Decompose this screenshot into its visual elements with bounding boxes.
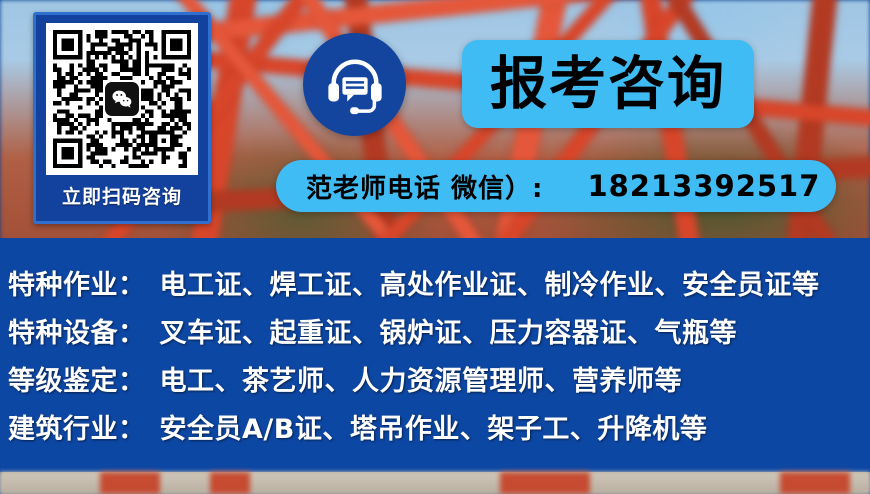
strip-blob bbox=[100, 472, 160, 494]
contact-phone-number[interactable]: 18213392517 bbox=[587, 169, 820, 203]
category-list-panel: 特种作业： 电工证、焊工证、高处作业证、制冷作业、安全员证等 特种设备： 叉车证… bbox=[0, 238, 870, 472]
category-value: 电工、茶艺师、人力资源管理师、营养师等 bbox=[160, 359, 683, 398]
category-row: 特种设备： 叉车证、起重证、锅炉证、压力容器证、气瓶等 bbox=[0, 306, 870, 354]
qr-code-image[interactable] bbox=[46, 23, 198, 175]
category-row: 特种作业： 电工证、焊工证、高处作业证、制冷作业、安全员证等 bbox=[0, 258, 870, 306]
category-label: 等级鉴定： bbox=[8, 359, 146, 398]
page-title: 报考咨询 bbox=[490, 56, 726, 113]
wechat-icon bbox=[105, 82, 139, 116]
strip-blob bbox=[500, 472, 590, 494]
qr-caption: 立即扫码咨询 bbox=[62, 182, 182, 209]
contact-label: 范老师电话 微信）: bbox=[306, 168, 543, 205]
qr-code-card[interactable]: 立即扫码咨询 bbox=[33, 12, 211, 224]
headset-chat-icon bbox=[303, 33, 406, 136]
category-value: 安全员A/B证、塔吊作业、架子工、升降机等 bbox=[160, 407, 708, 446]
category-row: 建筑行业： 安全员A/B证、塔吊作业、架子工、升降机等 bbox=[0, 402, 870, 450]
promo-banner: 立即扫码咨询 报考咨询 范老师电话 微信）: 18213392517 特种作业：… bbox=[0, 0, 870, 494]
strip-blob bbox=[210, 472, 250, 494]
strip-blob bbox=[780, 472, 850, 494]
category-label: 特种作业： bbox=[8, 263, 146, 302]
category-label: 特种设备： bbox=[8, 311, 146, 350]
category-row: 等级鉴定： 电工、茶艺师、人力资源管理师、营养师等 bbox=[0, 354, 870, 402]
category-value: 电工证、焊工证、高处作业证、制冷作业、安全员证等 bbox=[160, 263, 820, 302]
title-pill[interactable]: 报考咨询 bbox=[462, 40, 754, 128]
contact-pill[interactable]: 范老师电话 微信）: 18213392517 bbox=[276, 160, 836, 212]
category-value: 叉车证、起重证、锅炉证、压力容器证、气瓶等 bbox=[160, 311, 738, 350]
category-label: 建筑行业： bbox=[8, 407, 146, 446]
